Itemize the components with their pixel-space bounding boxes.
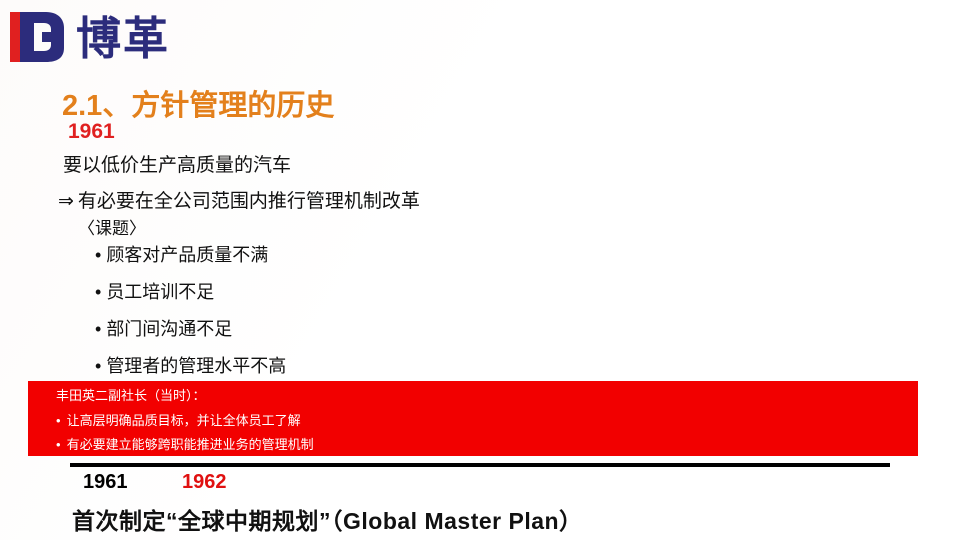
double-arrow-icon: ⇒ bbox=[58, 190, 74, 212]
slide-canvas: 博革 2.1、方针管理的历史 1961 要以低价生产高质量的汽车 ⇒有必要在全公… bbox=[0, 0, 960, 540]
bullet-dot-icon: • bbox=[56, 436, 61, 454]
watermark-url: www.bogejt.com bbox=[810, 515, 942, 525]
boge-watermark-icon bbox=[851, 478, 885, 512]
bullet-dot-icon: • bbox=[95, 245, 101, 266]
page-title: 2.1、方针管理的历史 bbox=[62, 82, 334, 124]
list-item: •部门间沟通不足 bbox=[95, 315, 232, 341]
list-item-label: 管理者的管理水平不高 bbox=[106, 356, 286, 376]
boge-logo-icon bbox=[6, 8, 68, 66]
list-item-label: 顾客对产品质量不满 bbox=[106, 245, 268, 265]
bullet-dot-icon: • bbox=[95, 356, 101, 377]
timeline-year-1961: 1961 bbox=[83, 471, 128, 494]
conclusion-text: 有必要在全公司范围内推行管理机制改革 bbox=[78, 191, 420, 212]
list-item-label: 员工培训不足 bbox=[106, 282, 214, 302]
quote-callout-box: 丰田英二副社长（当时）： •让高层明确品质目标，并让全体员工了解 •有必要建立能… bbox=[28, 381, 918, 456]
year-label-1961-top: 1961 bbox=[68, 120, 115, 144]
timeline-divider bbox=[70, 463, 890, 467]
bullet-dot-icon: • bbox=[95, 319, 101, 340]
callout-list-item: •有必要建立能够跨职能推进业务的管理机制 bbox=[56, 436, 918, 454]
watermark-text: 博革 bbox=[890, 482, 942, 508]
list-item: •顾客对产品质量不满 bbox=[95, 241, 268, 267]
timeline-year-1962: 1962 bbox=[182, 471, 227, 494]
callout-list-item-label: 有必要建立能够跨职能推进业务的管理机制 bbox=[67, 437, 314, 452]
list-item: •员工培训不足 bbox=[95, 278, 214, 304]
topics-heading: 〈课题〉 bbox=[78, 214, 146, 239]
callout-list-item-label: 让高层明确品质目标，并让全体员工了解 bbox=[67, 413, 301, 428]
callout-heading: 丰田英二副社长（当时）： bbox=[56, 387, 918, 405]
goal-statement: 要以低价生产高质量的汽车 bbox=[63, 150, 291, 177]
brand-logo: 博革 bbox=[6, 8, 170, 66]
footer-statement: 首次制定“全球中期规划”（Global Master Plan） bbox=[72, 502, 583, 536]
conclusion-statement: ⇒有必要在全公司范围内推行管理机制改革 bbox=[58, 186, 420, 213]
callout-list-item: •让高层明确品质目标，并让全体员工了解 bbox=[56, 412, 918, 430]
list-item: •管理者的管理水平不高 bbox=[95, 352, 286, 378]
bullet-dot-icon: • bbox=[56, 412, 61, 430]
watermark-row: 博革 bbox=[810, 478, 942, 512]
watermark: 博革 www.bogejt.com bbox=[810, 478, 942, 534]
list-item-label: 部门间沟通不足 bbox=[106, 319, 232, 339]
brand-wordmark: 博革 bbox=[76, 16, 170, 61]
bullet-dot-icon: • bbox=[95, 282, 101, 303]
